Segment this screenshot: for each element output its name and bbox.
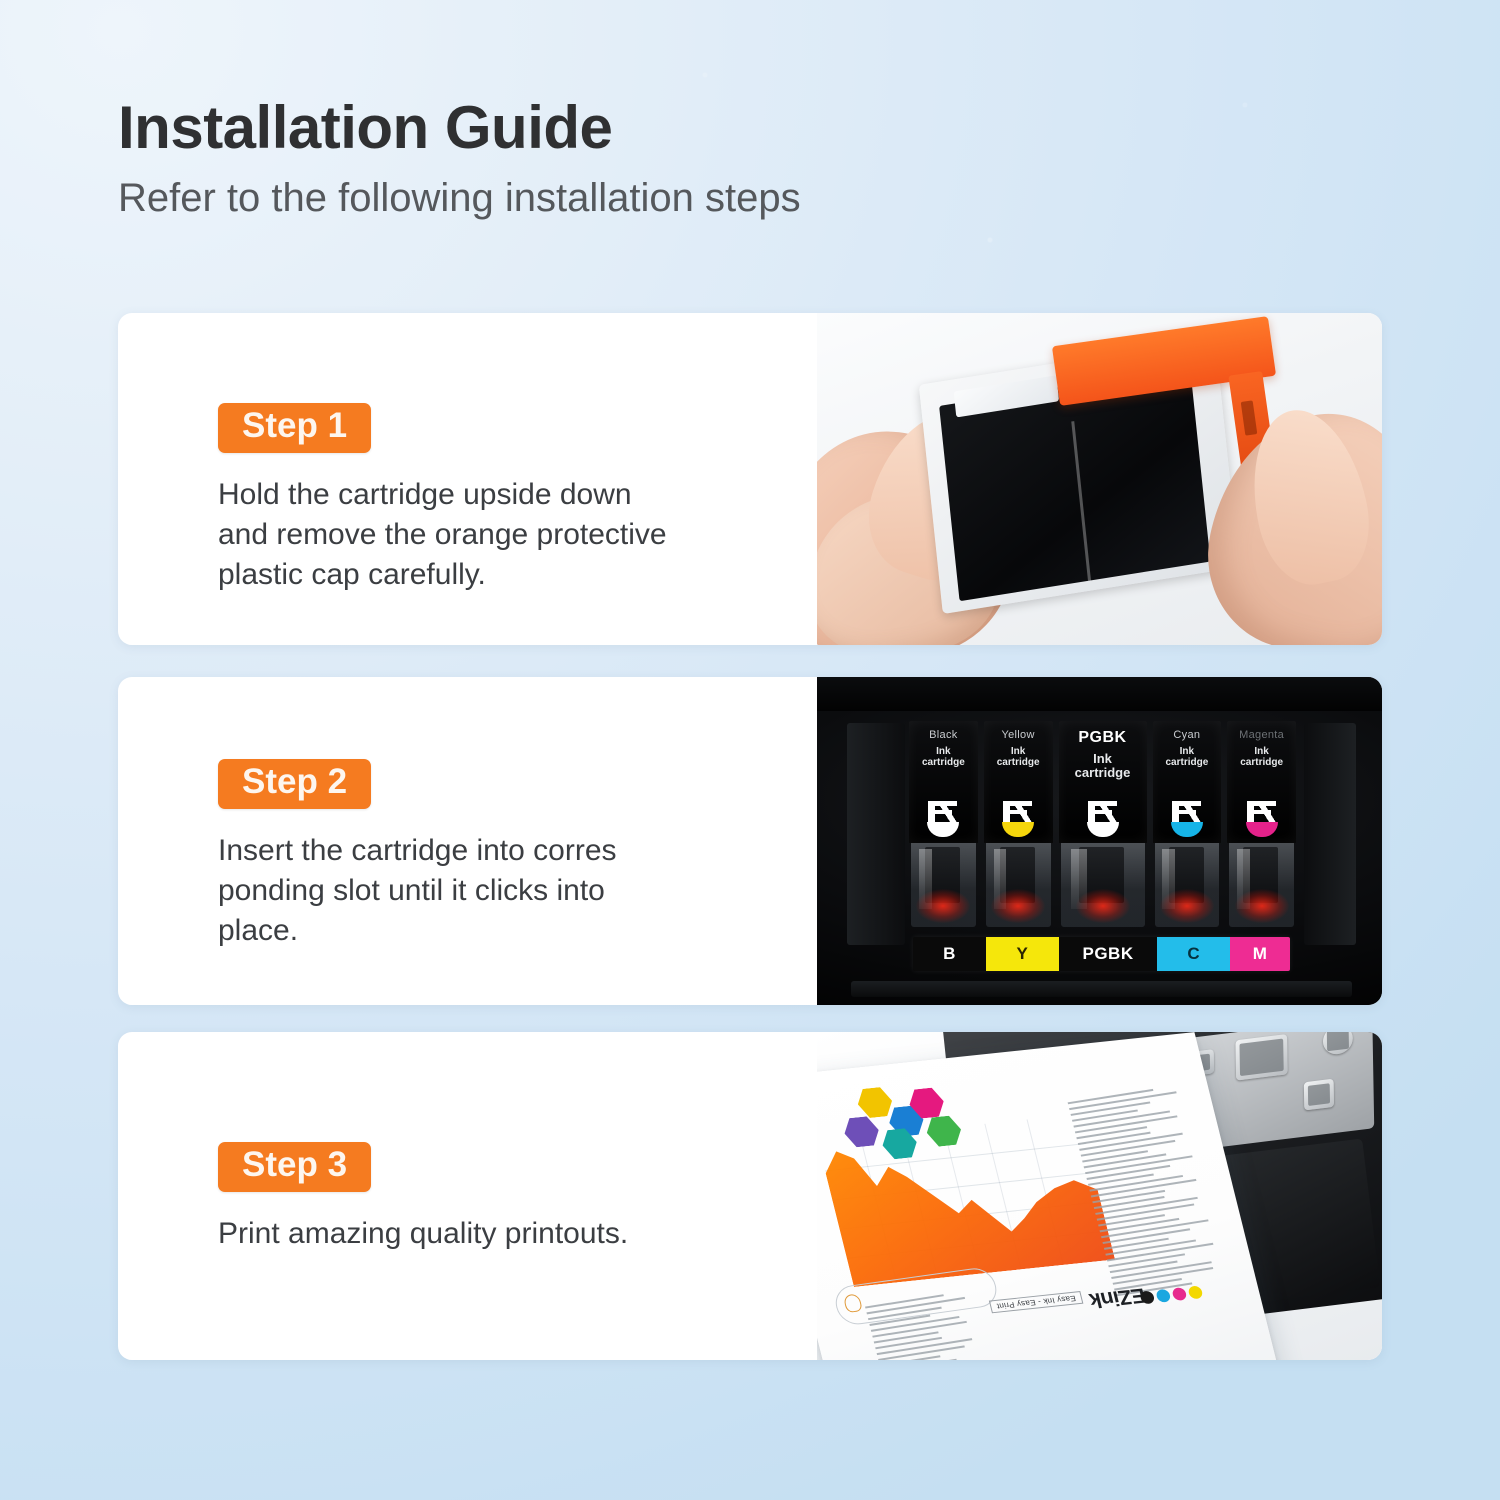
cartridge-sub-label: Inkcartridge	[922, 746, 965, 768]
cartridge-ink-tank	[986, 843, 1051, 927]
ez-logo-icon	[1086, 799, 1120, 837]
page-title: Installation Guide	[118, 96, 1218, 161]
cartridge-color-name: Yellow	[1002, 729, 1035, 741]
cartridge-label-magenta: MagentaInkcartridge	[1227, 721, 1296, 843]
color-strip-b: B	[913, 937, 986, 971]
step-2-description: Insert the cartridge into corres ponding…	[218, 831, 617, 951]
step-card-3: Step 3 Print amazing quality printouts.	[118, 1032, 1382, 1360]
step-1-text-panel: Step 1 Hold the cartridge upside down an…	[118, 313, 817, 645]
cartridge-sub-label: Inkcartridge	[997, 746, 1040, 768]
cartridge-sub-label: Inkcartridge	[1075, 752, 1131, 781]
cartridge-label-yellow: YellowInkcartridge	[984, 721, 1053, 843]
cartridge-pgbk: PGBKInkcartridge	[1059, 721, 1147, 927]
cartridge-slot-row: BlackInkcartridgeYellowInkcartridgePGBKI…	[909, 721, 1296, 927]
cartridge-black: BlackInkcartridge	[909, 721, 978, 927]
panel-menu-button-icon	[1304, 1079, 1334, 1111]
color-strip-m: M	[1230, 937, 1290, 971]
printed-text-column-left	[1068, 1084, 1236, 1301]
step-3-badge: Step 3	[218, 1142, 371, 1192]
ez-logo-icon	[1001, 799, 1035, 837]
step-card-1: Step 1 Hold the cartridge upside down an…	[118, 313, 1382, 645]
ez-logo-icon	[1170, 799, 1204, 837]
printer-carriage-cartridges-photo: BlackInkcartridgeYellowInkcartridgePGBKI…	[817, 677, 1382, 1005]
color-code-strip: BYPGBKCM	[913, 937, 1290, 971]
page-subtitle: Refer to the following installation step…	[118, 175, 1218, 221]
color-strip-y: Y	[986, 937, 1059, 971]
ezink-logo: EZink Easy Ink - Easy Print	[989, 1283, 1148, 1322]
color-strip-c: C	[1157, 937, 1230, 971]
ez-logo-icon	[1245, 799, 1279, 837]
hands-removing-orange-cap-photo: Two hands holding a black ink cartridge …	[817, 313, 1382, 645]
step-2-badge: Step 2	[218, 759, 371, 809]
cmyk-dot	[1171, 1287, 1187, 1301]
cmyk-dot	[1139, 1290, 1155, 1304]
cartridge-yellow: YellowInkcartridge	[984, 721, 1053, 927]
ezink-logo-name: EZink	[1087, 1284, 1147, 1312]
color-strip-pgbk: PGBK	[1059, 937, 1157, 971]
step-3-description: Print amazing quality printouts.	[218, 1214, 628, 1254]
cartridge-cyan: CyanInkcartridge	[1153, 721, 1222, 927]
power-button-icon	[1323, 1032, 1353, 1056]
step-1-description: Hold the cartridge upside down and remov…	[218, 475, 688, 595]
carriage-right-rail	[1304, 723, 1356, 945]
cartridge-sub-label: Inkcartridge	[1240, 746, 1283, 768]
cartridge-magenta: MagentaInkcartridge	[1227, 721, 1296, 927]
cartridge-color-name: PGBK	[1078, 729, 1126, 747]
cartridge-ink-tank	[1061, 843, 1145, 927]
cmyk-dot	[1155, 1289, 1171, 1303]
step-3-image-alt: A freshly printed color page with an ora…	[817, 1032, 818, 1033]
cmyk-dot	[1187, 1285, 1203, 1299]
cartridge-color-name: Magenta	[1239, 729, 1284, 741]
ez-logo-icon	[926, 799, 960, 837]
cartridge-label-cyan: CyanInkcartridge	[1153, 721, 1222, 843]
cartridge-ink-tank	[1229, 843, 1294, 927]
cartridge-color-name: Black	[929, 729, 957, 741]
cartridge-label-pgbk: PGBKInkcartridge	[1059, 721, 1147, 843]
cartridge-ink-tank	[1155, 843, 1220, 927]
cartridge-label-black: BlackInkcartridge	[909, 721, 978, 843]
panel-navigation-pad-icon	[1235, 1034, 1287, 1081]
carriage-left-rail	[847, 723, 905, 945]
step-1-image-alt: Two hands holding a black ink cartridge …	[817, 313, 818, 314]
guide-header: Installation Guide Refer to the followin…	[118, 96, 1218, 221]
step-2-text-panel: Step 2 Insert the cartridge into corres …	[118, 677, 817, 1005]
carriage-base	[851, 981, 1352, 997]
step-card-2: Step 2 Insert the cartridge into corres …	[118, 677, 1382, 1005]
step-1-badge: Step 1	[218, 403, 371, 453]
printed-page-output-photo: EZink Easy Ink - Easy Print A freshly pr…	[817, 1032, 1382, 1360]
step-3-image: EZink Easy Ink - Easy Print A freshly pr…	[817, 1032, 1382, 1360]
ezink-logo-tagline: Easy Ink - Easy Print	[989, 1291, 1083, 1313]
step-1-image: Two hands holding a black ink cartridge …	[817, 313, 1382, 645]
step-3-text-panel: Step 3 Print amazing quality printouts.	[118, 1032, 817, 1360]
step-2-image: BlackInkcartridgeYellowInkcartridgePGBKI…	[817, 677, 1382, 1005]
cartridge-ink-tank	[911, 843, 976, 927]
hexagon-shape	[854, 1086, 895, 1119]
cartridge-sub-label: Inkcartridge	[1165, 746, 1208, 768]
cartridge-color-name: Cyan	[1173, 729, 1200, 741]
